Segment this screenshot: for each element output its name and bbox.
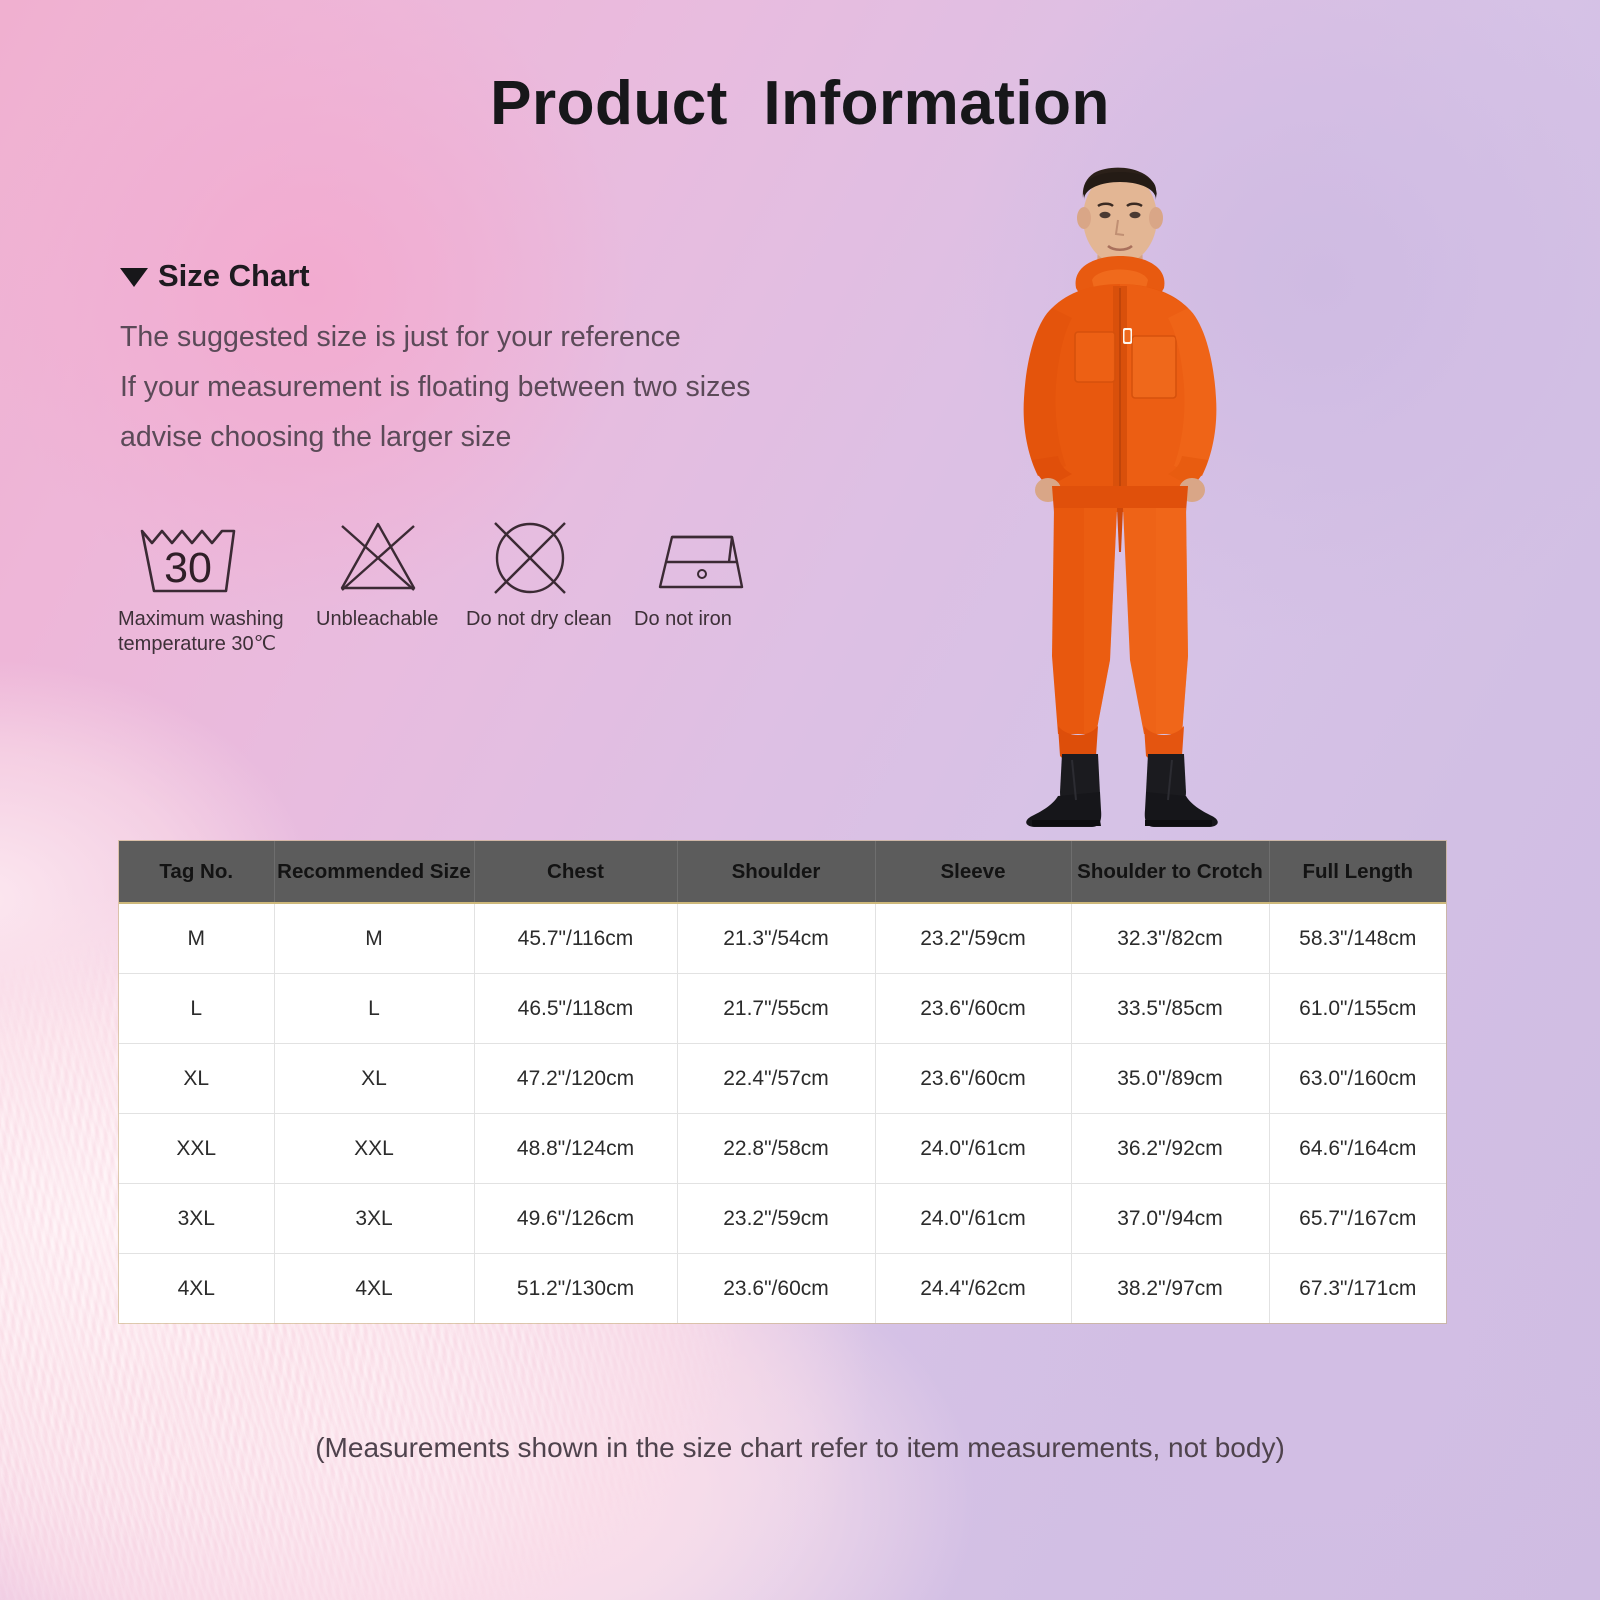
cell-tag-no: L (119, 974, 274, 1044)
do-not-bleach-icon (314, 512, 482, 598)
cell-recommended-size: XXL (274, 1114, 474, 1184)
cell-chest: 47.2"/120cm (474, 1044, 677, 1114)
table-row: M M 45.7"/116cm 21.3"/54cm 23.2"/59cm 32… (119, 903, 1446, 974)
size-note-line-1: The suggested size is just for your refe… (120, 312, 940, 362)
cell-recommended-size: L (274, 974, 474, 1044)
cell-full-length: 61.0"/155cm (1269, 974, 1446, 1044)
size-note-line-3: advise choosing the larger size (120, 412, 940, 462)
cell-recommended-size: XL (274, 1044, 474, 1114)
product-information-page: Product Information Size Chart The sugge… (0, 0, 1600, 1600)
cell-tag-no: XXL (119, 1114, 274, 1184)
cell-tag-no: M (119, 903, 274, 974)
cell-tag-no: 3XL (119, 1184, 274, 1254)
measurement-footnote: (Measurements shown in the size chart re… (0, 1432, 1600, 1464)
column-header-shoulder: Shoulder (677, 841, 875, 903)
cell-shoulder-to-crotch: 37.0"/94cm (1071, 1184, 1269, 1254)
care-caption-max-wash: Maximum washing temperature 30℃ (118, 607, 284, 657)
size-chart-heading: Size Chart (120, 258, 310, 294)
care-symbol-do-not-dry-clean: Do not dry clean (466, 512, 634, 632)
size-chart-table: Tag No. Recommended Size Chest Shoulder … (119, 841, 1446, 1323)
cell-shoulder: 21.7"/55cm (677, 974, 875, 1044)
table-row: L L 46.5"/118cm 21.7"/55cm 23.6"/60cm 33… (119, 974, 1446, 1044)
wash-tub-30-icon: 30 (118, 512, 330, 598)
cell-full-length: 64.6"/164cm (1269, 1114, 1446, 1184)
cell-sleeve: 23.2"/59cm (875, 903, 1071, 974)
cell-recommended-size: M (274, 903, 474, 974)
do-not-dry-clean-icon (466, 512, 650, 598)
care-symbol-max-wash-30: 30 Maximum washing temperature 30℃ (118, 512, 314, 657)
cell-shoulder: 23.6"/60cm (677, 1254, 875, 1324)
column-header-recommended-size: Recommended Size (274, 841, 474, 903)
table-row: 3XL 3XL 49.6"/126cm 23.2"/59cm 24.0"/61c… (119, 1184, 1446, 1254)
triangle-down-icon (120, 268, 148, 287)
cell-recommended-size: 3XL (274, 1184, 474, 1254)
cell-shoulder-to-crotch: 36.2"/92cm (1071, 1114, 1269, 1184)
size-chart-notes: The suggested size is just for your refe… (120, 312, 940, 462)
cell-chest: 51.2"/130cm (474, 1254, 677, 1324)
cell-chest: 46.5"/118cm (474, 974, 677, 1044)
cell-shoulder: 21.3"/54cm (677, 903, 875, 974)
cell-shoulder-to-crotch: 32.3"/82cm (1071, 903, 1269, 974)
page-title: Product Information (0, 68, 1600, 139)
table-header-row: Tag No. Recommended Size Chest Shoulder … (119, 841, 1446, 903)
cell-shoulder: 22.8"/58cm (677, 1114, 875, 1184)
table-row: XXL XXL 48.8"/124cm 22.8"/58cm 24.0"/61c… (119, 1114, 1446, 1184)
column-header-shoulder-to-crotch: Shoulder to Crotch (1071, 841, 1269, 903)
table-row: 4XL 4XL 51.2"/130cm 23.6"/60cm 24.4"/62c… (119, 1254, 1446, 1324)
cell-tag-no: 4XL (119, 1254, 274, 1324)
cell-chest: 49.6"/126cm (474, 1184, 677, 1254)
cell-sleeve: 23.6"/60cm (875, 974, 1071, 1044)
cell-full-length: 58.3"/148cm (1269, 903, 1446, 974)
care-symbol-unbleachable: Unbleachable (314, 512, 466, 632)
cell-sleeve: 23.6"/60cm (875, 1044, 1071, 1114)
cell-shoulder-to-crotch: 38.2"/97cm (1071, 1254, 1269, 1324)
cell-full-length: 63.0"/160cm (1269, 1044, 1446, 1114)
cell-shoulder: 23.2"/59cm (677, 1184, 875, 1254)
cell-full-length: 67.3"/171cm (1269, 1254, 1446, 1324)
size-note-line-2: If your measurement is floating between … (120, 362, 940, 412)
care-caption-unbleachable: Unbleachable (316, 607, 438, 632)
do-not-iron-icon (634, 512, 810, 598)
cell-full-length: 65.7"/167cm (1269, 1184, 1446, 1254)
cell-sleeve: 24.4"/62cm (875, 1254, 1071, 1324)
column-header-full-length: Full Length (1269, 841, 1446, 903)
cell-shoulder-to-crotch: 35.0"/89cm (1071, 1044, 1269, 1114)
cell-sleeve: 24.0"/61cm (875, 1184, 1071, 1254)
table-row: XL XL 47.2"/120cm 22.4"/57cm 23.6"/60cm … (119, 1044, 1446, 1114)
column-header-chest: Chest (474, 841, 677, 903)
cell-shoulder-to-crotch: 33.5"/85cm (1071, 974, 1269, 1044)
column-header-tag-no: Tag No. (119, 841, 274, 903)
care-symbols-row: 30 Maximum washing temperature 30℃ Unble… (118, 512, 794, 657)
model-photo (980, 160, 1260, 830)
size-chart-label: Size Chart (158, 258, 310, 294)
column-header-sleeve: Sleeve (875, 841, 1071, 903)
care-caption-do-not-dry-clean: Do not dry clean (466, 607, 612, 632)
cell-tag-no: XL (119, 1044, 274, 1114)
care-symbol-do-not-iron: Do not iron (634, 512, 794, 632)
care-caption-do-not-iron: Do not iron (634, 607, 732, 632)
wash-temp-value: 30 (164, 544, 212, 592)
cell-recommended-size: 4XL (274, 1254, 474, 1324)
cell-chest: 45.7"/116cm (474, 903, 677, 974)
cell-chest: 48.8"/124cm (474, 1114, 677, 1184)
cell-sleeve: 24.0"/61cm (875, 1114, 1071, 1184)
cell-shoulder: 22.4"/57cm (677, 1044, 875, 1114)
